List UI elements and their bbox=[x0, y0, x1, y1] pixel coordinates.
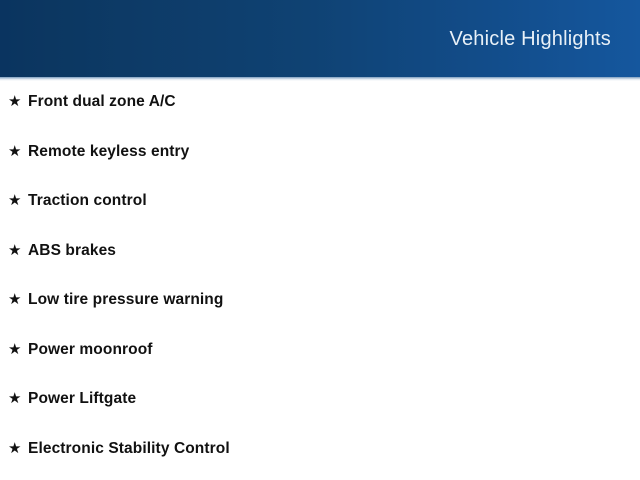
list-item-label: Power moonroof bbox=[28, 342, 153, 358]
star-icon: ★ bbox=[8, 144, 28, 159]
star-icon: ★ bbox=[8, 391, 28, 406]
star-icon: ★ bbox=[8, 94, 28, 109]
page-title: Vehicle Highlights bbox=[450, 29, 640, 49]
star-icon: ★ bbox=[8, 193, 28, 208]
list-item: ★ Front dual zone A/C bbox=[0, 77, 640, 127]
list-item: ★ Remote keyless entry bbox=[0, 127, 640, 177]
vehicle-highlights-list: ★ Front dual zone A/C ★ Remote keyless e… bbox=[0, 77, 640, 473]
list-item: ★ ABS brakes bbox=[0, 226, 640, 276]
vehicle-highlights-page: Vehicle Highlights ★ Front dual zone A/C… bbox=[0, 0, 640, 480]
list-item: ★ Power moonroof bbox=[0, 325, 640, 375]
header-banner: Vehicle Highlights bbox=[0, 0, 640, 77]
list-item: ★ Power Liftgate bbox=[0, 374, 640, 424]
list-item-label: Low tire pressure warning bbox=[28, 292, 223, 308]
list-item: ★ Electronic Stability Control bbox=[0, 424, 640, 474]
list-item-label: Remote keyless entry bbox=[28, 144, 189, 160]
list-item-label: Front dual zone A/C bbox=[28, 94, 176, 110]
list-item-label: Traction control bbox=[28, 193, 147, 209]
list-item-label: ABS brakes bbox=[28, 243, 116, 259]
star-icon: ★ bbox=[8, 243, 28, 258]
list-item: ★ Traction control bbox=[0, 176, 640, 226]
star-icon: ★ bbox=[8, 342, 28, 357]
list-item: ★ Low tire pressure warning bbox=[0, 275, 640, 325]
star-icon: ★ bbox=[8, 441, 28, 456]
list-item-label: Power Liftgate bbox=[28, 391, 136, 407]
list-item-label: Electronic Stability Control bbox=[28, 441, 230, 457]
star-icon: ★ bbox=[8, 292, 28, 307]
